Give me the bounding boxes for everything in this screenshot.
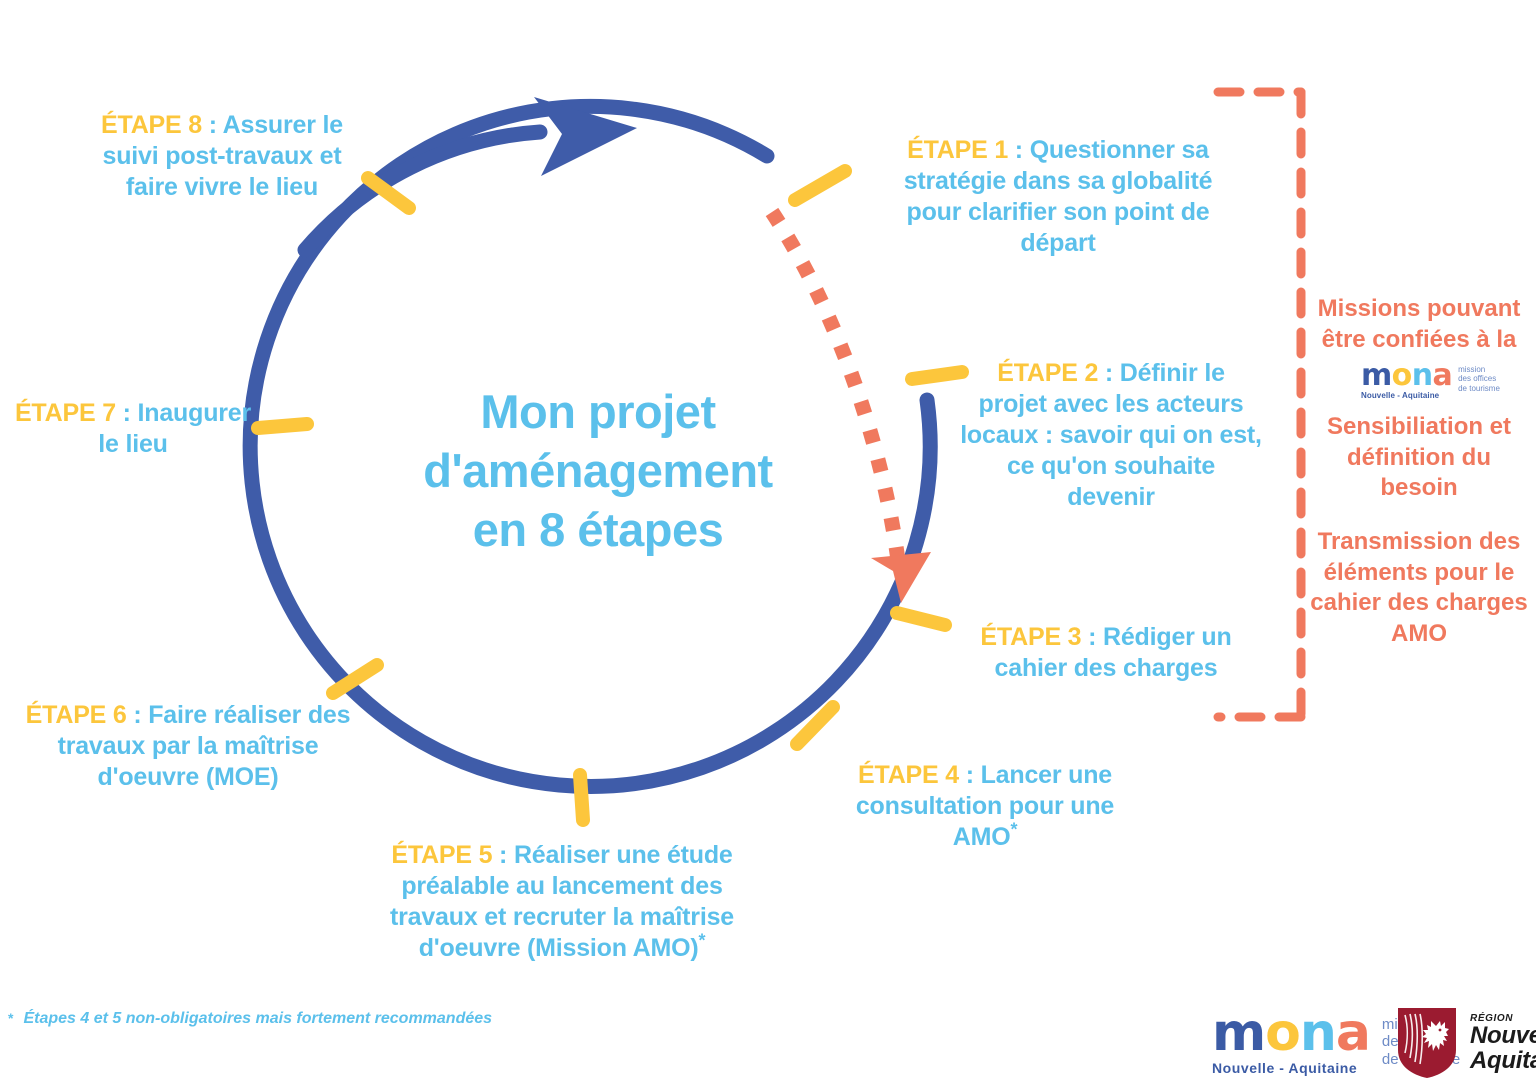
step-1-number: ÉTAPE 1 — [907, 136, 1008, 164]
step-6-number: ÉTAPE 6 — [26, 701, 127, 729]
mona-logo-inline: mona Nouvelle - Aquitaine mission des of… — [1361, 362, 1500, 400]
mona-letter-n: n — [1412, 358, 1433, 393]
infographic-canvas: Mon projet d'aménagement en 8 étapes ÉTA… — [0, 0, 1536, 1086]
step-3-separator: : — [1081, 623, 1103, 651]
mona-letter-m: m — [1361, 358, 1392, 393]
mona-tagline-line-1: mission — [1458, 365, 1500, 374]
mona-wordmark-inline: mona Nouvelle - Aquitaine — [1361, 362, 1452, 400]
region-shield-icon — [1396, 1006, 1458, 1080]
step-8-number: ÉTAPE 8 — [101, 111, 202, 139]
missions-item-2-text: Transmission des éléments pour le cahier… — [1310, 528, 1527, 647]
mona-letter-o-footer: o — [1265, 1003, 1300, 1063]
mona-subtitle-footer: Nouvelle - Aquitaine — [1212, 1060, 1370, 1076]
region-name-line-2: Aquitaine — [1470, 1049, 1536, 1074]
step-8-separator: : — [202, 111, 223, 139]
mona-letter-a: a — [1432, 358, 1452, 393]
step-3-number: ÉTAPE 3 — [980, 623, 1081, 651]
tick-step-7 — [258, 424, 307, 428]
step-1-separator: : — [1008, 136, 1030, 164]
mona-tagline-inline: mission des offices de tourisme — [1458, 365, 1500, 393]
step-label-etape-8: ÉTAPE 8 : Assurer le suivi post-travaux … — [88, 110, 356, 203]
step-5-asterisk: * — [699, 931, 706, 951]
tick-step-5 — [580, 775, 583, 820]
region-logo: RÉGION Nouvelle- Aquitaine — [1396, 1006, 1536, 1080]
step-2-number: ÉTAPE 2 — [997, 359, 1098, 387]
mona-letters-footer: mona — [1212, 1010, 1370, 1058]
mona-letters-inline: mona — [1361, 362, 1452, 390]
missions-item-2: Transmission des éléments pour le cahier… — [1300, 527, 1536, 650]
footnote-asterisk: * — [8, 1010, 13, 1026]
title-line-1: Mon projet — [358, 382, 838, 441]
mona-wordmark-footer: mona Nouvelle - Aquitaine — [1212, 1010, 1370, 1076]
step-5-separator: : — [492, 841, 514, 869]
step-label-etape-3: ÉTAPE 3 : Rédiger un cahier des charges — [962, 622, 1250, 684]
missions-heading-line-2: être confiées à la — [1306, 325, 1532, 356]
step-4-number: ÉTAPE 4 — [858, 761, 959, 789]
mona-subtitle-inline: Nouvelle - Aquitaine — [1361, 391, 1452, 400]
region-wordmark: RÉGION Nouvelle- Aquitaine — [1470, 1013, 1536, 1074]
missions-panel: Missions pouvant être confiées à la — [1306, 294, 1532, 355]
step-label-etape-7: ÉTAPE 7 : Inaugurer le lieu — [8, 398, 258, 460]
mona-letter-a-footer: a — [1336, 1003, 1370, 1063]
tick-step-2 — [912, 372, 962, 379]
title-line-2: d'aménagement — [358, 441, 838, 500]
step-2-separator: : — [1098, 359, 1120, 387]
page-title: Mon projet d'aménagement en 8 étapes — [358, 382, 838, 560]
mona-tagline-line-2: des offices — [1458, 374, 1500, 383]
step-4-asterisk: * — [1010, 820, 1017, 840]
step-label-etape-2: ÉTAPE 2 : Définir le projet avec les act… — [960, 358, 1262, 513]
step-4-separator: : — [959, 761, 981, 789]
step-label-etape-6: ÉTAPE 6 : Faire réaliser des travaux par… — [14, 700, 362, 793]
footnote: *Étapes 4 et 5 non-obligatoires mais for… — [8, 1010, 492, 1028]
step-label-etape-4: ÉTAPE 4 : Lancer une consultation pour u… — [834, 760, 1136, 853]
missions-item-1: Sensibiliation et définition du besoin — [1306, 412, 1532, 504]
missions-heading-line-1: Missions pouvant — [1306, 294, 1532, 325]
step-6-separator: : — [127, 701, 149, 729]
tick-step-1 — [795, 171, 845, 200]
step-7-separator: : — [116, 399, 138, 427]
step-5-number: ÉTAPE 5 — [391, 841, 492, 869]
mona-tagline-line-3: de tourisme — [1458, 384, 1500, 393]
orange-arrow-head — [871, 552, 931, 603]
step-label-etape-1: ÉTAPE 1 : Questionner sa stratégie dans … — [888, 135, 1228, 259]
tick-step-3 — [897, 613, 945, 625]
mona-letter-n-footer: n — [1300, 1003, 1336, 1063]
step-label-etape-5: ÉTAPE 5 : Réaliser une étude préalable a… — [372, 840, 752, 964]
step-7-number: ÉTAPE 7 — [15, 399, 116, 427]
mona-letter-o: o — [1392, 358, 1412, 393]
mona-letter-m-footer: m — [1212, 1003, 1265, 1063]
region-name-line-1: Nouvelle- — [1470, 1024, 1536, 1049]
title-line-3: en 8 étapes — [358, 500, 838, 559]
missions-item-1-text: Sensibiliation et définition du besoin — [1327, 413, 1511, 501]
footnote-text: Étapes 4 et 5 non-obligatoires mais fort… — [23, 1010, 492, 1027]
